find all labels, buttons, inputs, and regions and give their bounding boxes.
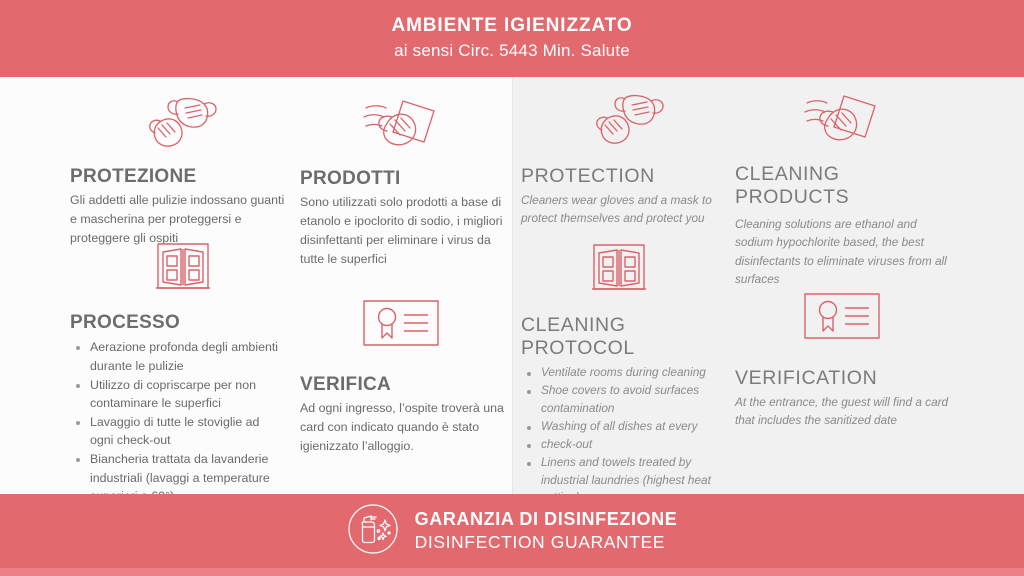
- list-item: Aerazione profonda degli ambienti durant…: [70, 338, 285, 375]
- section-title: CLEANING PRODUCTS: [735, 163, 950, 209]
- footer-banner: GARANZIA DI DISINFEZIONE DISINFECTION GU…: [0, 494, 1024, 568]
- list-item: Shoe covers to avoid surfaces contaminat…: [521, 382, 726, 418]
- section-body: Gli addetti alle pulizie indossano guant…: [70, 191, 285, 248]
- section-title-text: CLEANING PRODUCTS: [735, 163, 849, 208]
- list-item: Utilizzo di copriscarpe per non contamin…: [70, 376, 285, 413]
- list-item: Washing of all dishes at every: [521, 418, 726, 436]
- page-title: AMBIENTE IGIENIZZATO: [391, 16, 632, 37]
- section-cleaning-products: CLEANING PRODUCTS Cleaning solutions are…: [735, 92, 950, 288]
- section-title-text: CLEANING PROTOCOL: [521, 314, 635, 359]
- panel-divider: [512, 77, 513, 494]
- section-protezione: PROTEZIONE Gli addetti alle pulizie indo…: [70, 95, 285, 248]
- certificate-card-icon: [803, 292, 881, 345]
- section-processo: PROCESSO Aerazione profonda degli ambien…: [70, 241, 285, 506]
- section-body: Sono utilizzati solo prodotti a base di …: [300, 193, 505, 268]
- open-window-icon: [155, 241, 211, 298]
- section-prodotti: PRODOTTI Sono utilizzati solo prodotti a…: [300, 97, 505, 269]
- infographic-page: AMBIENTE IGIENIZZATO ai sensi Circ. 5443…: [0, 0, 1024, 576]
- page-subtitle: ai sensi Circ. 5443 Min. Salute: [394, 41, 630, 61]
- section-body: Ad ogni ingresso, l’ospite troverà una c…: [300, 399, 505, 456]
- footer-line-1: GARANZIA DI DISINFEZIONE: [415, 509, 678, 530]
- section-title: CLEANING PROTOCOL: [521, 314, 726, 360]
- section-cleaning-protocol: CLEANING PROTOCOL Ventilate rooms during…: [521, 242, 726, 507]
- gloves-mask-icon: [589, 92, 667, 153]
- section-protection: PROTECTION Cleaners wear gloves and a ma…: [521, 92, 726, 228]
- content-area: PROTEZIONE Gli addetti alle pulizie indo…: [0, 77, 1024, 494]
- section-title: PROCESSO: [70, 312, 285, 334]
- hand-wiping-cloth-icon: [803, 92, 883, 151]
- section-body: Cleaning solutions are ethanol and sodiu…: [735, 215, 950, 288]
- processo-list: Aerazione profonda degli ambienti durant…: [70, 338, 285, 505]
- section-title: VERIFICATION: [735, 367, 950, 390]
- list-item: check-out: [521, 436, 726, 454]
- footer-content: GARANZIA DI DISINFEZIONE DISINFECTION GU…: [347, 503, 678, 560]
- list-item: Ventilate rooms during cleaning: [521, 364, 726, 382]
- footer-text: GARANZIA DI DISINFEZIONE DISINFECTION GU…: [415, 509, 678, 553]
- gloves-mask-icon: [142, 95, 220, 156]
- spray-bottle-sparkles-icon: [347, 503, 399, 560]
- cleaning-protocol-list: Ventilate rooms during cleaning Shoe cov…: [521, 364, 726, 507]
- section-title: PROTECTION: [521, 165, 726, 188]
- section-title: VERIFICA: [300, 374, 505, 396]
- open-window-icon: [591, 242, 647, 299]
- section-body: Cleaners wear gloves and a mask to prote…: [521, 191, 726, 228]
- list-item: Lavaggio di tutte le stoviglie ad ogni c…: [70, 413, 285, 450]
- section-title: PRODOTTI: [300, 168, 505, 190]
- section-verification: VERIFICATION At the entrance, the guest …: [735, 292, 950, 430]
- section-body: At the entrance, the guest will find a c…: [735, 393, 950, 430]
- footer-line-2: DISINFECTION GUARANTEE: [415, 532, 678, 553]
- footer-bottom-strip: [0, 568, 1024, 576]
- section-title: PROTEZIONE: [70, 166, 285, 188]
- header-banner: AMBIENTE IGIENIZZATO ai sensi Circ. 5443…: [0, 0, 1024, 77]
- section-verifica: VERIFICA Ad ogni ingresso, l’ospite trov…: [300, 299, 505, 456]
- hand-wiping-cloth-icon: [362, 97, 442, 156]
- certificate-card-icon: [362, 299, 440, 352]
